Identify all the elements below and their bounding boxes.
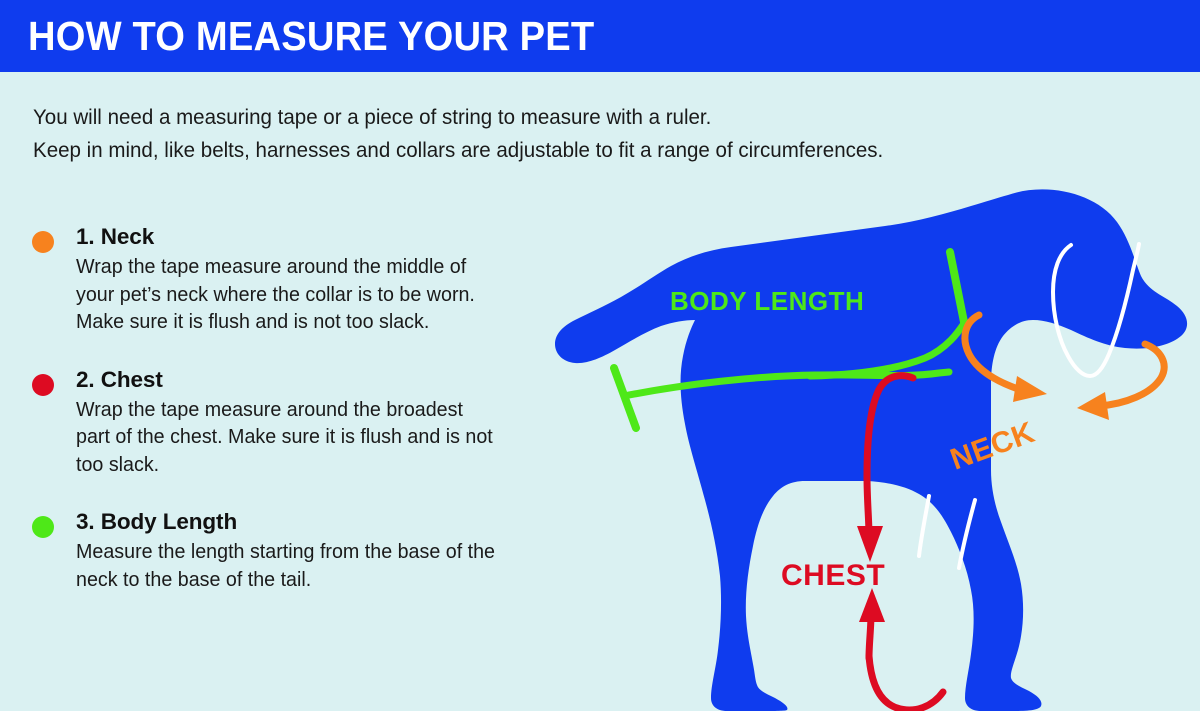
- label-chest: CHEST: [781, 559, 885, 592]
- step-body-body-length: Measure the length starting from the bas…: [76, 538, 536, 593]
- step-body-line: too slack.: [76, 451, 518, 479]
- header-bar: HOW TO MEASURE YOUR PET: [0, 0, 1200, 72]
- step-item-body-length: 3. Body Length Measure the length starti…: [30, 507, 530, 593]
- step-body-line: Make sure it is flush and is not too sla…: [76, 308, 518, 336]
- neck-arrow-right-head: [1077, 392, 1109, 420]
- bullet-icon-body-length: [32, 516, 54, 538]
- chest-arrow-up-head: [859, 588, 885, 622]
- infographic-page: HOW TO MEASURE YOUR PET You will need a …: [0, 0, 1200, 711]
- step-title-chest: 2. Chest: [76, 365, 530, 395]
- intro-paragraph: You will need a measuring tape or a piec…: [33, 101, 1083, 167]
- step-body-line: part of the chest. Make sure it is flush…: [76, 423, 518, 451]
- measurement-steps-list: 1. Neck Wrap the tape measure around the…: [30, 222, 530, 618]
- step-item-chest: 2. Chest Wrap the tape measure around th…: [30, 365, 530, 479]
- step-body-neck: Wrap the tape measure around the middle …: [76, 253, 536, 336]
- chest-arrow-down-head: [857, 526, 883, 562]
- label-body-length: BODY LENGTH: [670, 286, 864, 316]
- front-leg-line-2: [919, 496, 929, 556]
- dog-measurement-diagram: BODY LENGTH NECK CHEST: [505, 170, 1200, 711]
- step-body-line: Measure the length starting from the bas…: [76, 538, 518, 566]
- step-title-neck: 1. Neck: [76, 222, 530, 252]
- bullet-icon-neck: [32, 231, 54, 253]
- intro-line-2: Keep in mind, like belts, harnesses and …: [33, 134, 1036, 167]
- bullet-icon-chest: [32, 374, 54, 396]
- page-title: HOW TO MEASURE YOUR PET: [28, 14, 594, 58]
- step-body-line: Wrap the tape measure around the broades…: [76, 396, 518, 424]
- step-body-line: neck to the base of the tail.: [76, 566, 518, 594]
- step-item-neck: 1. Neck Wrap the tape measure around the…: [30, 222, 530, 336]
- step-body-line: Wrap the tape measure around the middle …: [76, 253, 518, 281]
- step-title-body-length: 3. Body Length: [76, 507, 530, 537]
- step-body-chest: Wrap the tape measure around the broades…: [76, 396, 536, 479]
- step-body-line: your pet’s neck where the collar is to b…: [76, 281, 518, 309]
- intro-line-1: You will need a measuring tape or a piec…: [33, 101, 1036, 134]
- neck-arrow-left-head: [1013, 376, 1047, 402]
